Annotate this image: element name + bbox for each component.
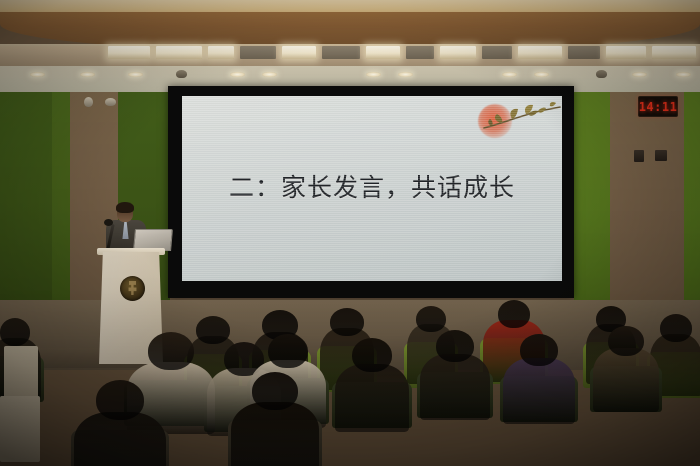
ceiling-downlight	[128, 72, 143, 77]
audience-person-torso	[231, 402, 319, 466]
audience-person-head	[608, 326, 644, 356]
lecture-hall-photo: 14:11 二：家长发言，共话成长	[0, 0, 700, 466]
green-wall-panel	[684, 92, 700, 307]
green-wall-panel	[52, 92, 70, 307]
audience-person-torso	[503, 358, 575, 424]
dome-camera	[105, 98, 116, 106]
ceiling-downlight	[262, 72, 277, 77]
ceiling-linear-light	[406, 46, 434, 59]
ceiling-downlight	[398, 72, 413, 77]
audience-person-head	[520, 334, 558, 366]
ceiling-linear-light	[652, 46, 696, 59]
ceiling-linear-light	[282, 46, 316, 59]
audience-person-head	[330, 308, 364, 336]
green-wall-panel	[574, 92, 610, 307]
branch-ornament-icon	[482, 102, 562, 142]
projection-screen: 二：家长发言，共话成长	[182, 96, 562, 281]
ceiling-linear-light	[322, 46, 360, 59]
ceiling-downlight	[534, 72, 549, 77]
ceiling-linear-light	[606, 46, 646, 59]
audience-person-head	[0, 318, 30, 346]
audience-person-head	[660, 314, 692, 342]
ceiling-linear-light	[482, 46, 512, 59]
audience-person-head	[252, 372, 298, 410]
ceiling-linear-light	[208, 46, 234, 59]
audience-person-head	[436, 330, 474, 362]
ceiling-downlight	[80, 72, 95, 77]
audience-person-torso	[420, 354, 490, 420]
audience-person-head	[352, 338, 392, 372]
audience-person-head	[498, 300, 530, 328]
ceiling-linear-light	[108, 46, 150, 59]
ceiling-downlight	[366, 72, 381, 77]
ceiling-linear-light	[568, 46, 600, 59]
ceiling-downlight	[30, 72, 45, 77]
ceiling-linear-light	[156, 46, 202, 59]
audience-person-head	[148, 332, 194, 370]
digital-wall-clock: 14:11	[638, 96, 678, 117]
clock-time-text: 14:11	[639, 100, 678, 114]
audience-person-head	[96, 380, 144, 420]
slide-title-text: 二：家长发言，共话成长	[182, 168, 562, 204]
audience-person-torso	[593, 348, 659, 412]
ceiling-linear-light	[240, 46, 276, 59]
green-wall-panel	[0, 92, 52, 307]
audience-person-head	[196, 316, 230, 344]
ceiling-downlight	[502, 72, 517, 77]
wall-bracket-left	[634, 150, 644, 162]
ceiling-speaker	[84, 97, 93, 107]
ceiling-dome-fitting	[176, 70, 187, 78]
microphone-head-icon	[104, 219, 113, 226]
audience-person-torso	[335, 364, 409, 432]
ceiling-linear-light	[518, 46, 562, 59]
ceiling-linear-light	[366, 46, 400, 59]
podium-crest-emblem-icon	[120, 276, 145, 301]
ceiling-dome-fitting	[596, 70, 607, 78]
audience-person-torso	[74, 412, 166, 466]
presenter-hair	[116, 202, 134, 213]
ceiling-linear-light	[440, 46, 476, 59]
ceiling-downlight	[676, 72, 691, 77]
audience-area	[0, 300, 700, 466]
seat-side-panel	[0, 396, 40, 462]
wall-bracket-right	[655, 150, 667, 161]
ceiling-downlight	[632, 72, 647, 77]
audience-person-head	[268, 334, 308, 368]
ceiling-downlight	[230, 72, 245, 77]
audience-person-head	[416, 306, 446, 332]
